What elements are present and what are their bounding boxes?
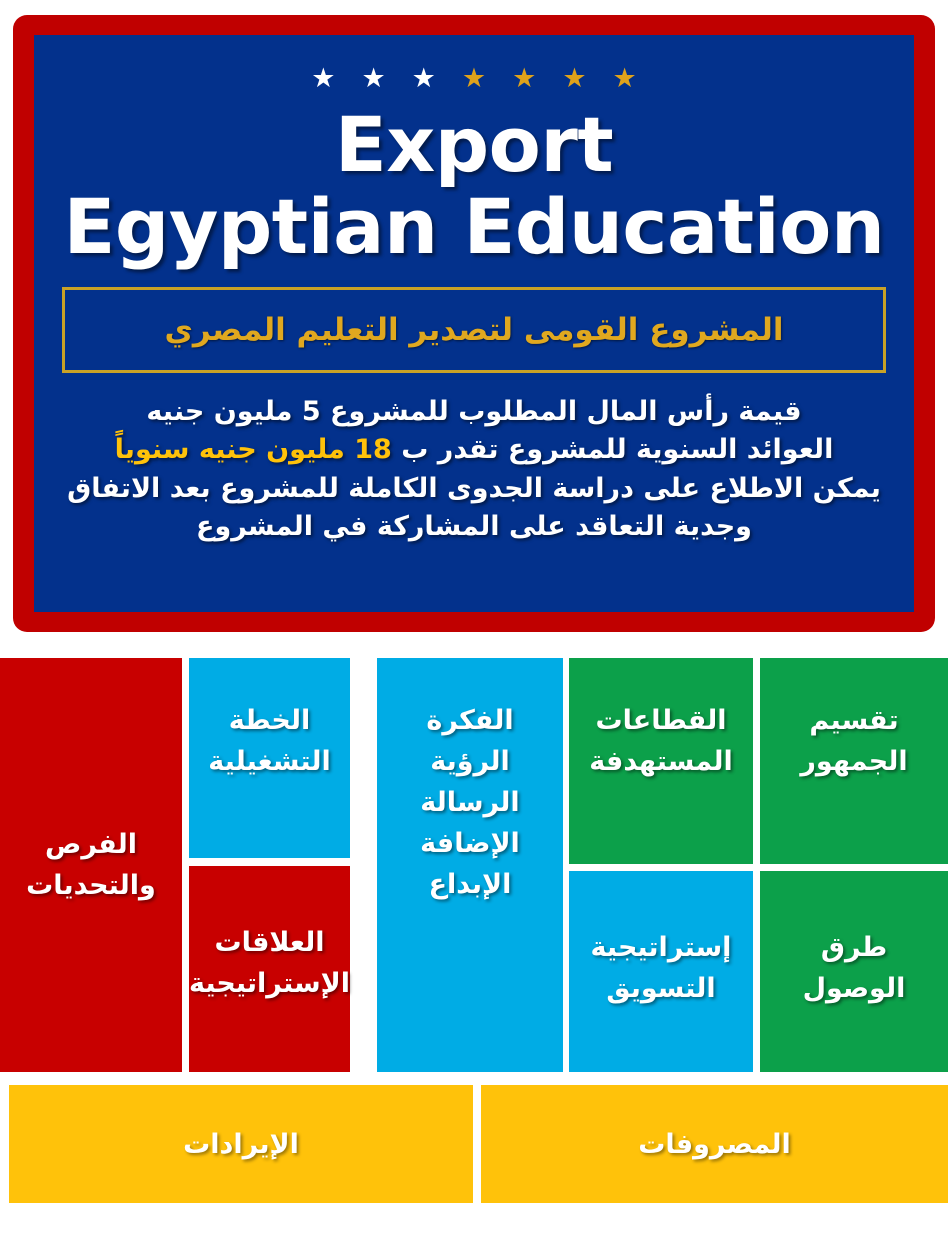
header-panel: ★ ★ ★ ★ ★ ★ ★ Export Egyptian Education … [13, 15, 935, 632]
expenses-label: المصروفات [638, 1129, 791, 1160]
grid-cell-audience-segmentation[interactable]: تقسيم الجمهور [760, 658, 948, 864]
cell-line: تقسيم [809, 700, 898, 741]
cell-line: الجمهور [800, 741, 907, 782]
grid-cell-operational-plan[interactable]: الخطة التشغيلية [189, 658, 350, 858]
cell-line: التسويق [606, 968, 715, 1009]
header-inner-panel: ★ ★ ★ ★ ★ ★ ★ Export Egyptian Education … [34, 35, 914, 612]
paragraph-line-1: قيمة رأس المال المطلوب للمشروع 5 مليون ج… [56, 393, 892, 431]
cell-line: الفكرة [426, 700, 513, 741]
cell-line: الإستراتيجية [189, 963, 350, 1004]
cell-line: القطاعات [596, 700, 727, 741]
grid-cell-access-methods[interactable]: طرق الوصول [760, 871, 948, 1072]
revenues-label: الإيرادات [183, 1129, 299, 1160]
star-1-icon: ★ [311, 65, 335, 92]
cell-line: طرق [821, 927, 887, 968]
grid-cell-expenses[interactable]: المصروفات [481, 1085, 948, 1203]
cell-line: الإضافة [420, 823, 520, 864]
financial-row: الإيرادات المصروفات [0, 1085, 948, 1203]
cell-line: الفرص [45, 824, 137, 865]
grid-cell-idea-vision-mission[interactable]: الفكرة الرؤية الرسالة الإضافة الإبداع [377, 658, 563, 1072]
paragraph-line-2-highlight: 18 مليون جنيه سنوياً [115, 434, 392, 465]
grid-cell-marketing-strategy[interactable]: إستراتيجية التسويق [569, 871, 753, 1072]
grid-cell-strategic-relations[interactable]: العلاقات الإستراتيجية [189, 866, 350, 1072]
page-title: Export Egyptian Education [56, 98, 892, 265]
cell-line: الوصول [803, 968, 906, 1009]
paragraph-line-2-prefix: العوائد السنوية للمشروع تقدر ب [392, 434, 833, 465]
title-line-export: Export [56, 106, 892, 184]
cell-line: الخطة [229, 700, 311, 741]
paragraph-line-3: يمكن الاطلاع على دراسة الجدوى الكاملة لل… [56, 470, 892, 508]
star-3-icon: ★ [412, 65, 436, 92]
subtitle-arabic: المشروع القومى لتصدير التعليم المصري [164, 312, 783, 348]
cell-line: الرسالة [420, 782, 519, 823]
paragraph-line-4: وجدية التعاقد على المشاركة في المشروع [56, 508, 892, 546]
paragraph-line-2: العوائد السنوية للمشروع تقدر ب 18 مليون … [56, 431, 892, 469]
stars-row: ★ ★ ★ ★ ★ ★ ★ [311, 65, 637, 92]
star-7-icon: ★ [613, 65, 637, 92]
grid-cell-opportunities-challenges[interactable]: الفرص والتحديات [0, 658, 182, 1072]
cell-line: المستهدفة [589, 741, 732, 782]
cell-line: العلاقات [214, 922, 324, 963]
cell-line: إستراتيجية [591, 927, 732, 968]
star-2-icon: ★ [361, 65, 385, 92]
title-line-egyptian-education: Egyptian Education [56, 188, 892, 266]
cell-line: الإبداع [429, 864, 512, 905]
subtitle-box: المشروع القومى لتصدير التعليم المصري [62, 287, 886, 373]
grid-cell-revenues[interactable]: الإيرادات [9, 1085, 473, 1203]
star-4-icon: ★ [462, 65, 486, 92]
star-5-icon: ★ [512, 65, 536, 92]
star-6-icon: ★ [562, 65, 586, 92]
grid-cell-target-sectors[interactable]: القطاعات المستهدفة [569, 658, 753, 864]
cell-line: الرؤية [430, 741, 509, 782]
topic-grid: الفرص والتحديات الخطة التشغيلية العلاقات… [0, 658, 948, 1072]
cell-line: التشغيلية [208, 741, 331, 782]
cell-line: والتحديات [26, 865, 156, 906]
header-paragraph: قيمة رأس المال المطلوب للمشروع 5 مليون ج… [56, 393, 892, 546]
